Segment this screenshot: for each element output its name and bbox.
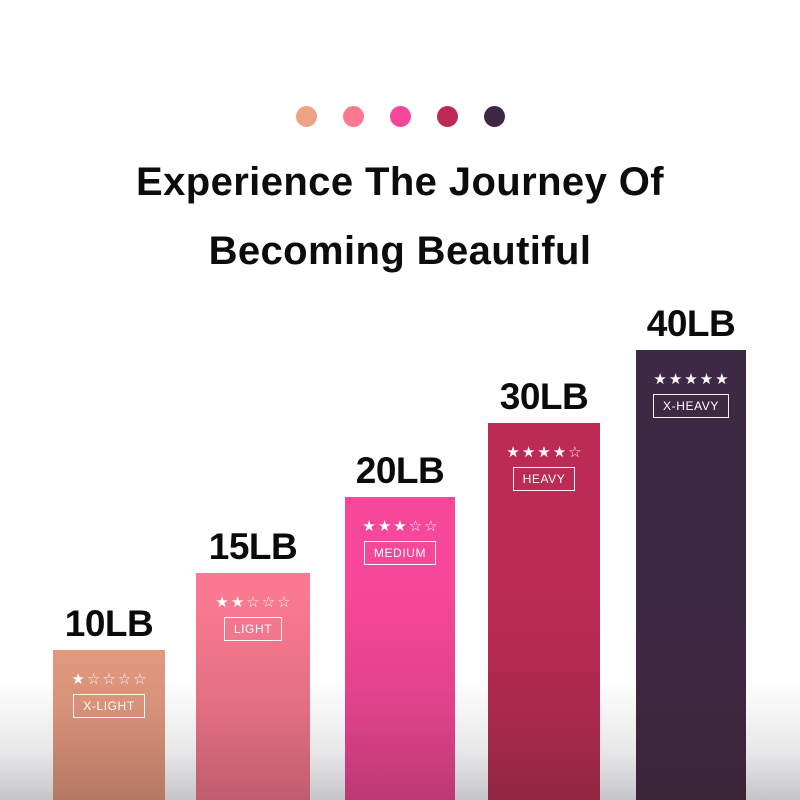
star-filled-icon: ★ bbox=[231, 595, 244, 610]
bar-body[interactable]: ★★★☆☆MEDIUM bbox=[345, 497, 455, 800]
star-empty-icon: ☆ bbox=[87, 672, 100, 687]
star-filled-icon: ★ bbox=[537, 445, 550, 460]
bar-badge: ★★★★★X-HEAVY bbox=[636, 372, 746, 418]
star-empty-icon: ☆ bbox=[246, 595, 259, 610]
star-empty-icon: ☆ bbox=[118, 672, 131, 687]
resistance-band-bar-chart: 10LB★☆☆☆☆X-LIGHT15LB★★☆☆☆LIGHT20LB★★★☆☆M… bbox=[0, 0, 800, 800]
star-filled-icon: ★ bbox=[522, 445, 535, 460]
bar-body[interactable]: ★★★★★X-HEAVY bbox=[636, 350, 746, 800]
star-filled-icon: ★ bbox=[362, 519, 375, 534]
bar-level-label: LIGHT bbox=[224, 617, 282, 641]
star-filled-icon: ★ bbox=[715, 372, 728, 387]
star-rating: ★★☆☆☆ bbox=[215, 595, 290, 610]
bar-column-20lb[interactable]: 20LB★★★☆☆MEDIUM bbox=[345, 439, 455, 800]
bar-weight-label: 20LB bbox=[345, 452, 455, 489]
bar-body[interactable]: ★☆☆☆☆X-LIGHT bbox=[53, 650, 165, 800]
bar-column-10lb[interactable]: 10LB★☆☆☆☆X-LIGHT bbox=[53, 592, 165, 800]
bar-body[interactable]: ★★★★☆HEAVY bbox=[488, 423, 600, 800]
star-filled-icon: ★ bbox=[506, 445, 519, 460]
star-filled-icon: ★ bbox=[653, 372, 666, 387]
star-filled-icon: ★ bbox=[378, 519, 391, 534]
bar-weight-label: 15LB bbox=[196, 528, 310, 565]
bar-level-label: MEDIUM bbox=[364, 541, 436, 565]
star-filled-icon: ★ bbox=[215, 595, 228, 610]
star-empty-icon: ☆ bbox=[277, 595, 290, 610]
bar-badge: ★★☆☆☆LIGHT bbox=[196, 595, 310, 641]
bar-weight-label: 30LB bbox=[488, 378, 600, 415]
star-filled-icon: ★ bbox=[669, 372, 682, 387]
bar-weight-label: 10LB bbox=[53, 605, 165, 642]
star-empty-icon: ☆ bbox=[568, 445, 581, 460]
star-rating: ★☆☆☆☆ bbox=[71, 672, 146, 687]
bar-body[interactable]: ★★☆☆☆LIGHT bbox=[196, 573, 310, 800]
bar-column-15lb[interactable]: 15LB★★☆☆☆LIGHT bbox=[196, 515, 310, 800]
star-rating: ★★★★☆ bbox=[506, 445, 581, 460]
bar-weight-label: 40LB bbox=[636, 305, 746, 342]
poster-canvas: Experience The Journey Of Becoming Beaut… bbox=[0, 0, 800, 800]
star-rating: ★★★★★ bbox=[653, 372, 728, 387]
star-empty-icon: ☆ bbox=[102, 672, 115, 687]
star-empty-icon: ☆ bbox=[409, 519, 422, 534]
bar-column-40lb[interactable]: 40LB★★★★★X-HEAVY bbox=[636, 292, 746, 800]
bar-badge: ★☆☆☆☆X-LIGHT bbox=[53, 672, 165, 718]
bar-level-label: X-HEAVY bbox=[653, 394, 729, 418]
bar-level-label: X-LIGHT bbox=[73, 694, 145, 718]
star-filled-icon: ★ bbox=[71, 672, 84, 687]
star-rating: ★★★☆☆ bbox=[362, 519, 437, 534]
star-empty-icon: ☆ bbox=[133, 672, 146, 687]
star-empty-icon: ☆ bbox=[424, 519, 437, 534]
star-filled-icon: ★ bbox=[700, 372, 713, 387]
star-filled-icon: ★ bbox=[393, 519, 406, 534]
bar-badge: ★★★★☆HEAVY bbox=[488, 445, 600, 491]
bar-level-label: HEAVY bbox=[513, 467, 576, 491]
star-empty-icon: ☆ bbox=[262, 595, 275, 610]
star-filled-icon: ★ bbox=[684, 372, 697, 387]
bar-badge: ★★★☆☆MEDIUM bbox=[345, 519, 455, 565]
star-filled-icon: ★ bbox=[553, 445, 566, 460]
bar-column-30lb[interactable]: 30LB★★★★☆HEAVY bbox=[488, 365, 600, 800]
